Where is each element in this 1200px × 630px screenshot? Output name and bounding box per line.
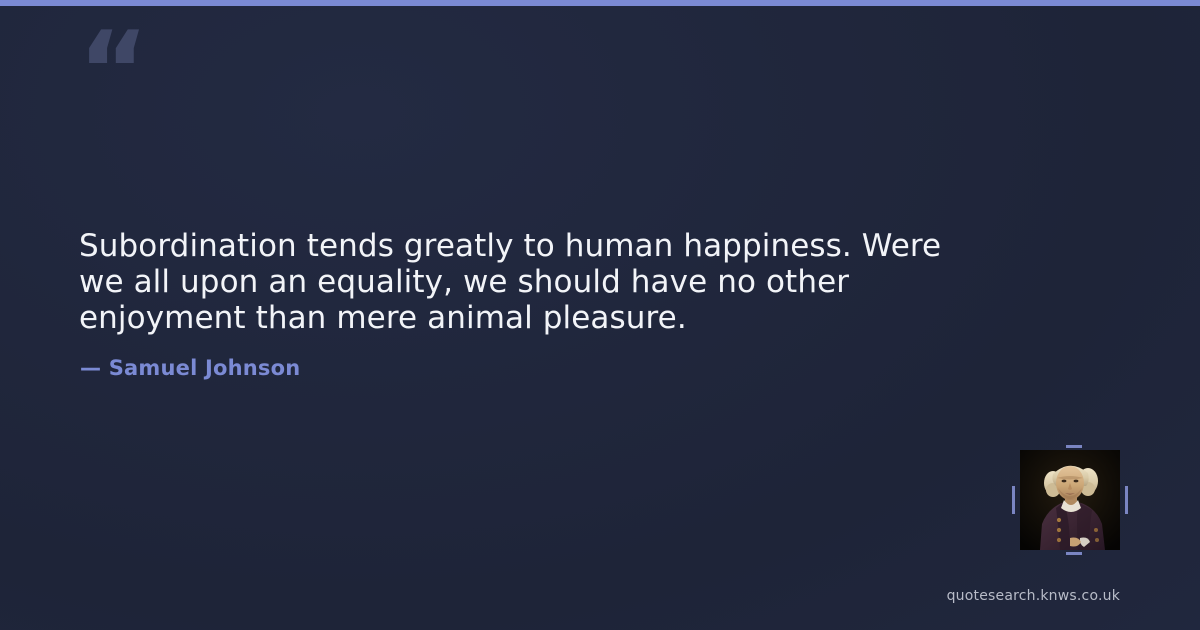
portrait-placeholder-rule-right (1125, 486, 1128, 514)
portrait-placeholder-rule-left (1012, 486, 1015, 514)
opening-quote-mark-icon: “ (78, 18, 147, 126)
quote-card: “ Subordination tends greatly to human h… (0, 0, 1200, 630)
quote-attribution: — Samuel Johnson (80, 356, 300, 380)
top-accent-bar (0, 0, 1200, 6)
author-portrait-image (1020, 450, 1120, 550)
author-portrait-frame (1020, 450, 1120, 550)
quote-text: Subordination tends greatly to human hap… (79, 228, 979, 336)
portrait-placeholder-rule-bottom (1066, 552, 1082, 555)
site-watermark: quotesearch.knws.co.uk (947, 588, 1120, 604)
author-portrait (1020, 450, 1120, 550)
portrait-placeholder-rule-top (1066, 445, 1082, 448)
